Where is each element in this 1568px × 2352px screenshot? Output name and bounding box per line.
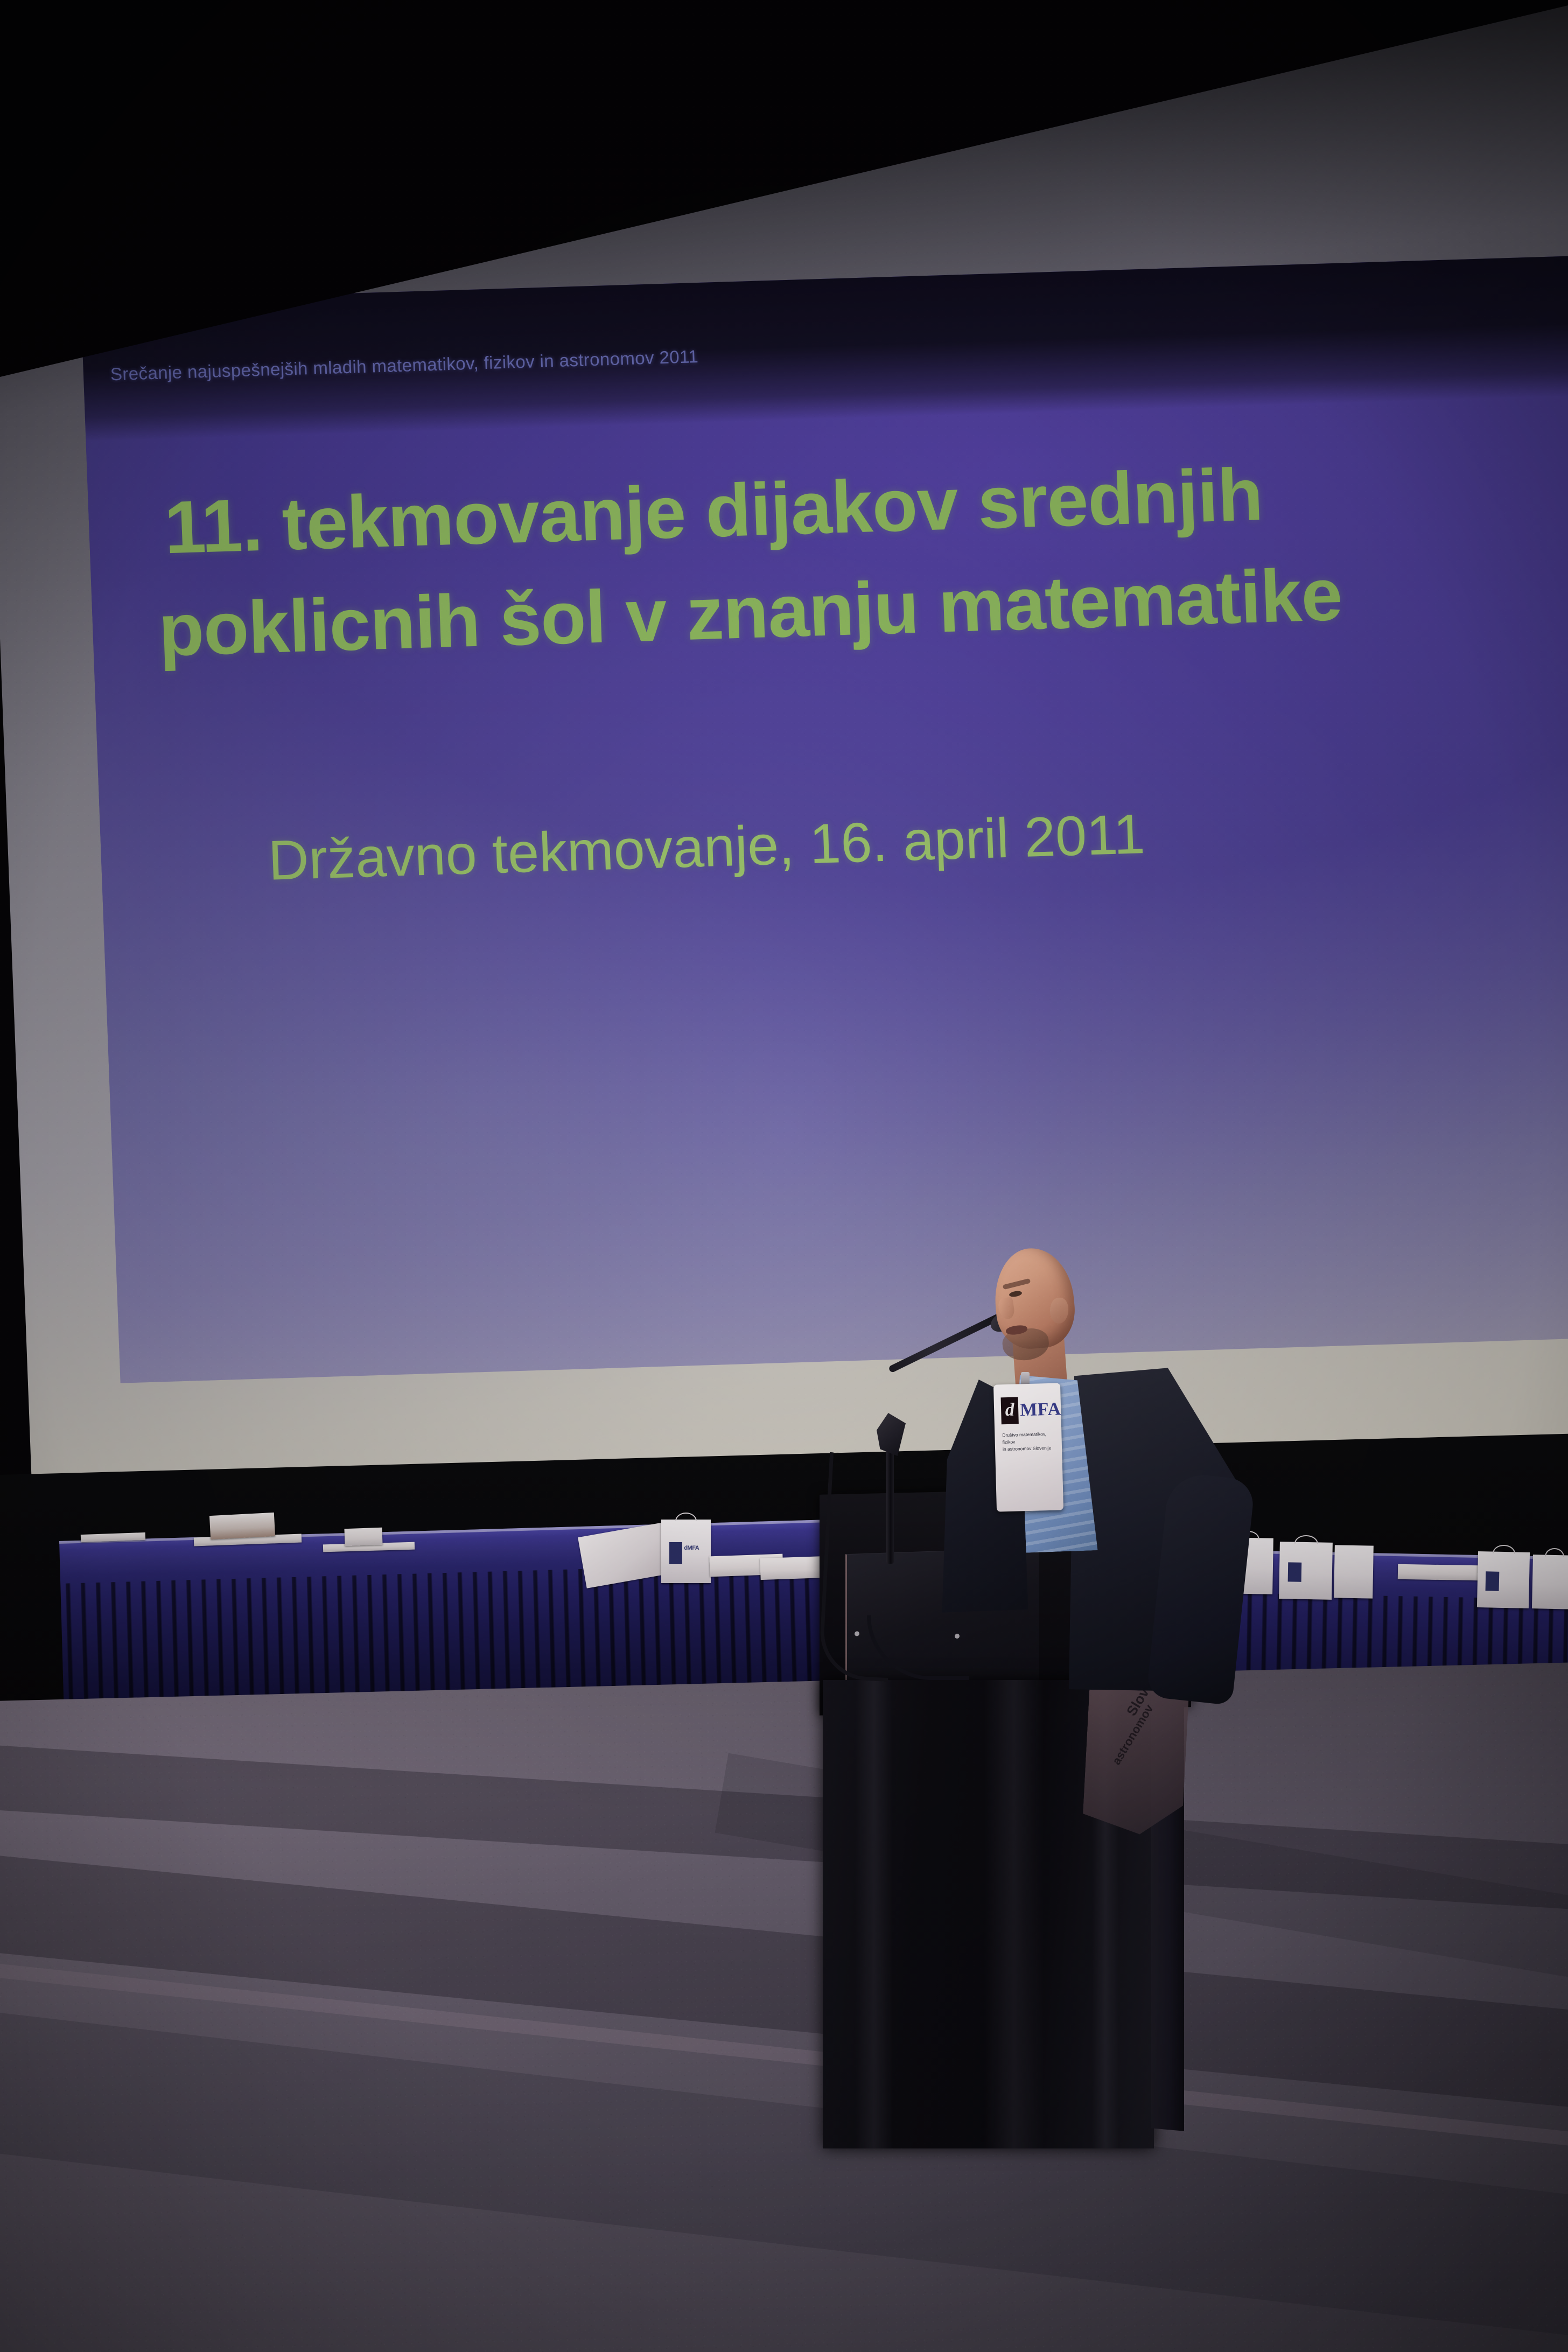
dmfa-logo-text: MFA (1020, 1399, 1061, 1420)
bag-logo-mark (669, 1542, 682, 1564)
dmfa-logo-letter: d (1001, 1397, 1019, 1424)
dmfa-logo: d MFA (1001, 1396, 1062, 1424)
table-left-card (209, 1513, 275, 1539)
bag-logo-mark (1486, 1572, 1500, 1591)
bag-logo-text: dMFA (684, 1545, 699, 1551)
badge-subtitle-line-2: in astronomov Slovenije (1003, 1445, 1056, 1453)
gift-bag-right-2 (1279, 1542, 1333, 1600)
stage-photograph: Srečanje najuspešnejših mladih matematik… (0, 0, 1568, 2352)
gift-bag-right-5 (1532, 1555, 1568, 1609)
table-left-paper-6 (760, 1556, 827, 1580)
microphone-stand-stem (886, 1451, 894, 1564)
projected-slide: Srečanje najuspešnejših mladih matematik… (81, 256, 1568, 1383)
lectern-gloss-highlight-1 (855, 1680, 893, 2148)
lectern-gloss-highlight-2 (984, 1680, 1044, 2148)
gift-bag-right-3 (1334, 1545, 1374, 1598)
slide-title: 11. tekmovanje dijakov srednjih poklicni… (163, 436, 1527, 682)
floor-texture (0, 1661, 1568, 2352)
bag-logo-mark (1287, 1563, 1301, 1582)
table-left-paper-4 (344, 1528, 382, 1546)
gift-bag-left-table: dMFA (661, 1520, 711, 1583)
conference-badge: d MFA Društvo matematikov, fizikov in as… (993, 1383, 1063, 1511)
badge-subtitle: Društvo matematikov, fizikov in astronom… (1002, 1431, 1056, 1453)
badge-subtitle-line-1: Društvo matematikov, fizikov (1002, 1431, 1056, 1446)
table-right-paper-1 (1398, 1564, 1479, 1581)
stage-floor-carpet (0, 1661, 1568, 2352)
gift-bag-right-4 (1477, 1551, 1530, 1608)
